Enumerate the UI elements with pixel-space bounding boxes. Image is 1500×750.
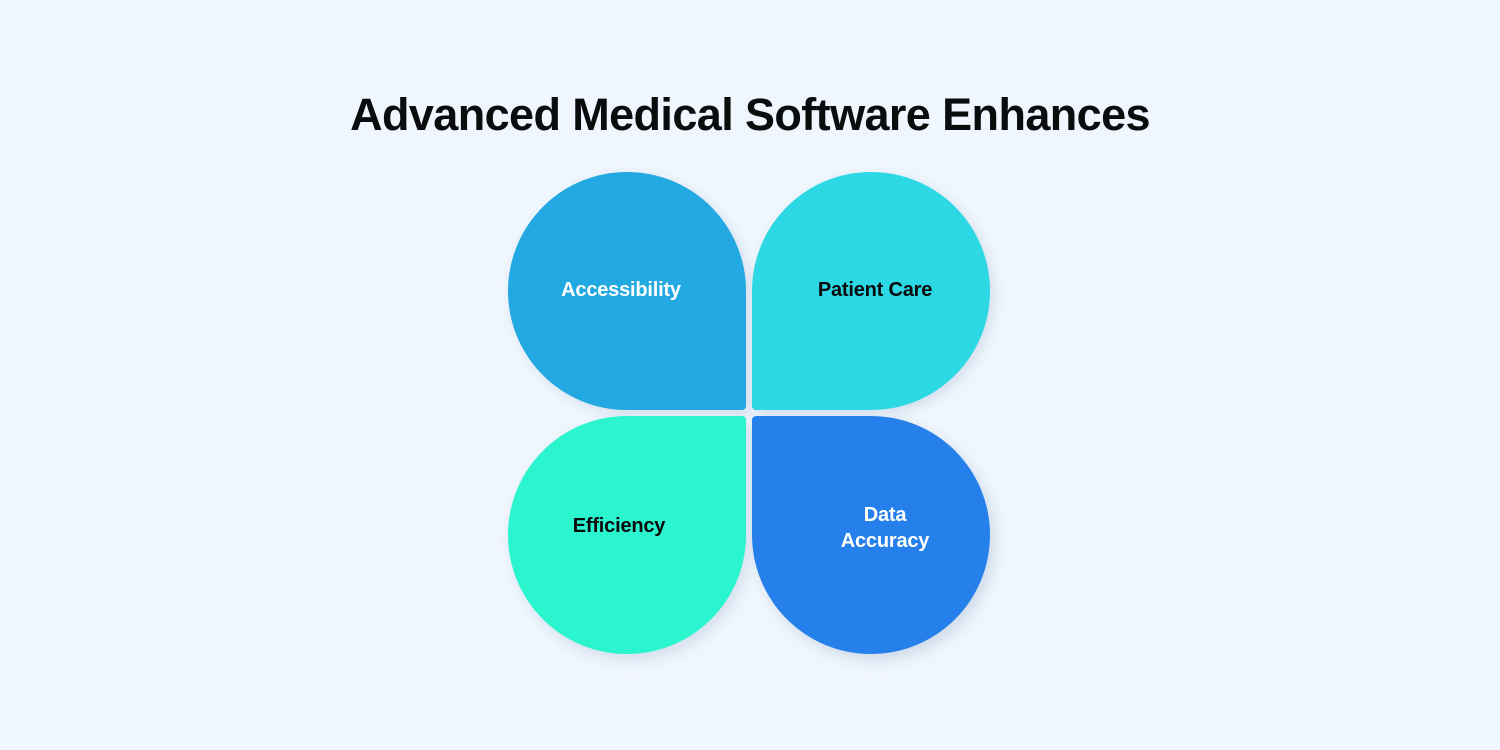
petal-efficiency-line-1: Efficiency — [573, 514, 665, 540]
petal-patient-care-label: Patient Care — [804, 278, 946, 304]
petal-patient-care[interactable]: Patient Care — [752, 172, 990, 410]
petal-data-accuracy-line-1: Data — [841, 503, 929, 529]
infographic-canvas: Advanced Medical Software Enhances Acces… — [0, 0, 1500, 750]
petal-efficiency[interactable]: Efficiency — [508, 416, 746, 654]
petal-patient-care-line-1: Patient Care — [818, 278, 932, 304]
petal-data-accuracy-label: Data Accuracy — [827, 503, 943, 554]
petal-efficiency-label: Efficiency — [559, 514, 679, 540]
four-petal-diagram: Accessibility Patient Care Efficiency Da… — [508, 172, 990, 654]
petal-accessibility[interactable]: Accessibility — [508, 172, 746, 410]
petal-accessibility-label: Accessibility — [547, 278, 695, 304]
page-title: Advanced Medical Software Enhances — [0, 90, 1500, 140]
petal-data-accuracy[interactable]: Data Accuracy — [752, 416, 990, 654]
petal-data-accuracy-line-2: Accuracy — [841, 529, 929, 555]
petal-accessibility-line-1: Accessibility — [561, 278, 681, 304]
